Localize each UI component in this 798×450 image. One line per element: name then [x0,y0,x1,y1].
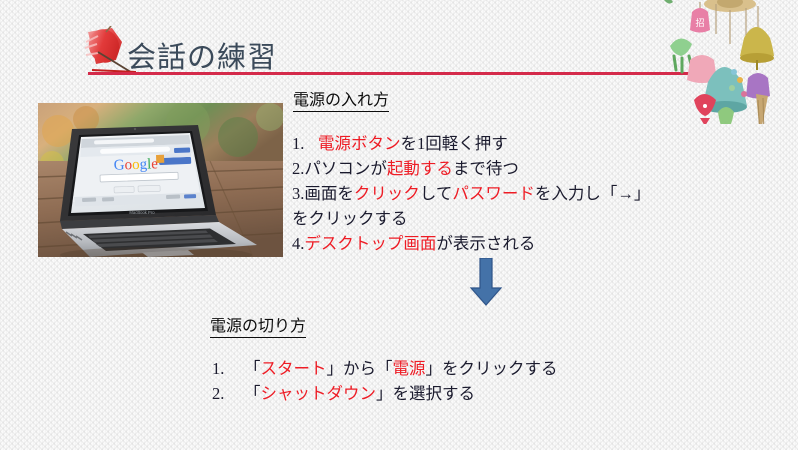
page-title: 会話の練習 [127,34,277,76]
list-item-text: が表示される [436,234,535,253]
list-item: 4.デスクトップ画面が表示される [292,231,652,256]
down-arrow-icon [469,258,503,306]
list-item-text: シャットダウン [261,384,377,403]
list-item-text: 」を選択する [376,384,475,403]
list-item-text: 」をクリックする [426,359,558,378]
list-item-text: 電源 [393,359,426,378]
power-off-steps-list: 1.「スタート」から「電源」をクリックする 2.「シャットダウン」を選択する [212,356,642,406]
wind-chime-ornament-icon: 招 [660,0,796,124]
list-item-text: パソコンが [304,159,387,178]
svg-text:招: 招 [695,17,704,28]
list-item-text: を1回軽く押す [401,134,508,153]
section-heading-power-on: 電源の入れ方 [293,86,389,112]
svg-text:Google: Google [114,156,159,174]
laptop-on-wooden-table-photo: Google MacBook Pro [38,103,283,257]
list-item-number: 3. [292,184,304,203]
list-item-text: パスワード [452,184,535,203]
list-item-text: 「 [244,359,261,378]
list-item: 1.「スタート」から「電源」をクリックする [212,356,642,381]
list-item-text: スタート [261,359,327,378]
list-item-text: 「 [244,384,261,403]
list-item: 1.電源ボタンを1回軽く押す [292,131,652,156]
list-item-text: まで待つ [453,159,519,178]
section-heading-power-off: 電源の切り方 [210,312,306,338]
slide-canvas: 会話の練習 招 [0,0,798,450]
list-item-number: 1. [212,356,244,381]
power-on-steps-list: 1.電源ボタンを1回軽く押す 2.パソコンが起動するまで待つ 3.画面をクリック… [292,131,652,256]
list-item-text: 電源ボタン [318,134,401,153]
list-item-text: 画面を [304,184,354,203]
list-item-text: クリック [354,184,420,203]
svg-text:MacBook Pro: MacBook Pro [129,210,155,215]
list-item-text: 」から「 [327,359,393,378]
list-item-number: 1. [292,131,318,156]
list-item-text: 起動する [387,159,453,178]
list-item: 2.パソコンが起動するまで待つ [292,156,652,181]
list-item: 3.画面をクリックしてパスワードを入力し「→」をクリックする [292,181,652,231]
list-item-number: 4. [292,234,304,253]
list-item-text: デスクトップ画面 [304,234,436,253]
list-item-number: 2. [212,381,244,406]
title-divider-rule [88,72,700,75]
list-item: 2.「シャットダウン」を選択する [212,381,642,406]
list-item-text: して [420,184,453,203]
list-item-number: 2. [292,159,304,178]
